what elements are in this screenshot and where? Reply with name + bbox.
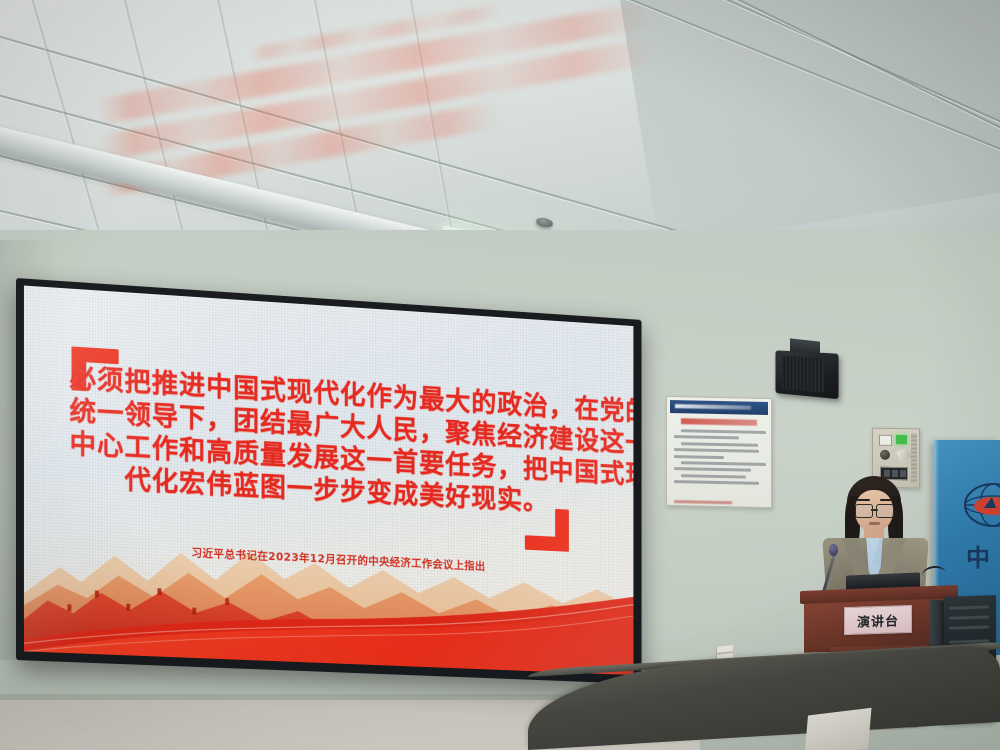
notice-body-text — [674, 429, 764, 501]
eyeglasses-icon — [855, 504, 894, 516]
notice-title-text — [681, 418, 757, 426]
conference-room-photo: 必须把推进中国式现代化作为最大的政治，在党的 统一领导下，团结最广大人民，聚焦经… — [0, 0, 1000, 750]
lever-switch-icon[interactable] — [896, 447, 912, 462]
microphone-icon — [829, 544, 838, 556]
smoke-detector-icon — [535, 216, 553, 228]
status-indicator-light — [896, 435, 907, 444]
screen-surface: 必须把推进中国式现代化作为最大的政治，在党的 统一领导下，团结最广大人民，聚焦经… — [24, 286, 633, 676]
led-display-screen[interactable]: 必须把推进中国式现代化作为最大的政治，在党的 统一领导下，团结最广大人民，聚焦经… — [16, 278, 642, 684]
power-switch-icon[interactable] — [879, 435, 892, 446]
podium-sign: 演讲台 — [844, 605, 912, 635]
slide-quote-text: 必须把推进中国式现代化作为最大的政治，在党的 统一领导下，团结最广大人民，聚焦经… — [69, 362, 599, 521]
banner-globe-logo-icon — [962, 482, 1000, 528]
rotary-knob-icon[interactable] — [880, 450, 890, 460]
banner-text: 中 — [966, 538, 992, 573]
document-sheet — [804, 708, 871, 750]
podium-sign-text: 演讲台 — [857, 610, 899, 630]
notice-footer-text — [674, 500, 732, 504]
wall-speaker-icon — [775, 350, 838, 399]
notice-header-bar — [670, 400, 768, 415]
speaker-grille — [782, 356, 824, 393]
wall-notice-board[interactable] — [666, 396, 772, 508]
mouth — [869, 522, 880, 525]
